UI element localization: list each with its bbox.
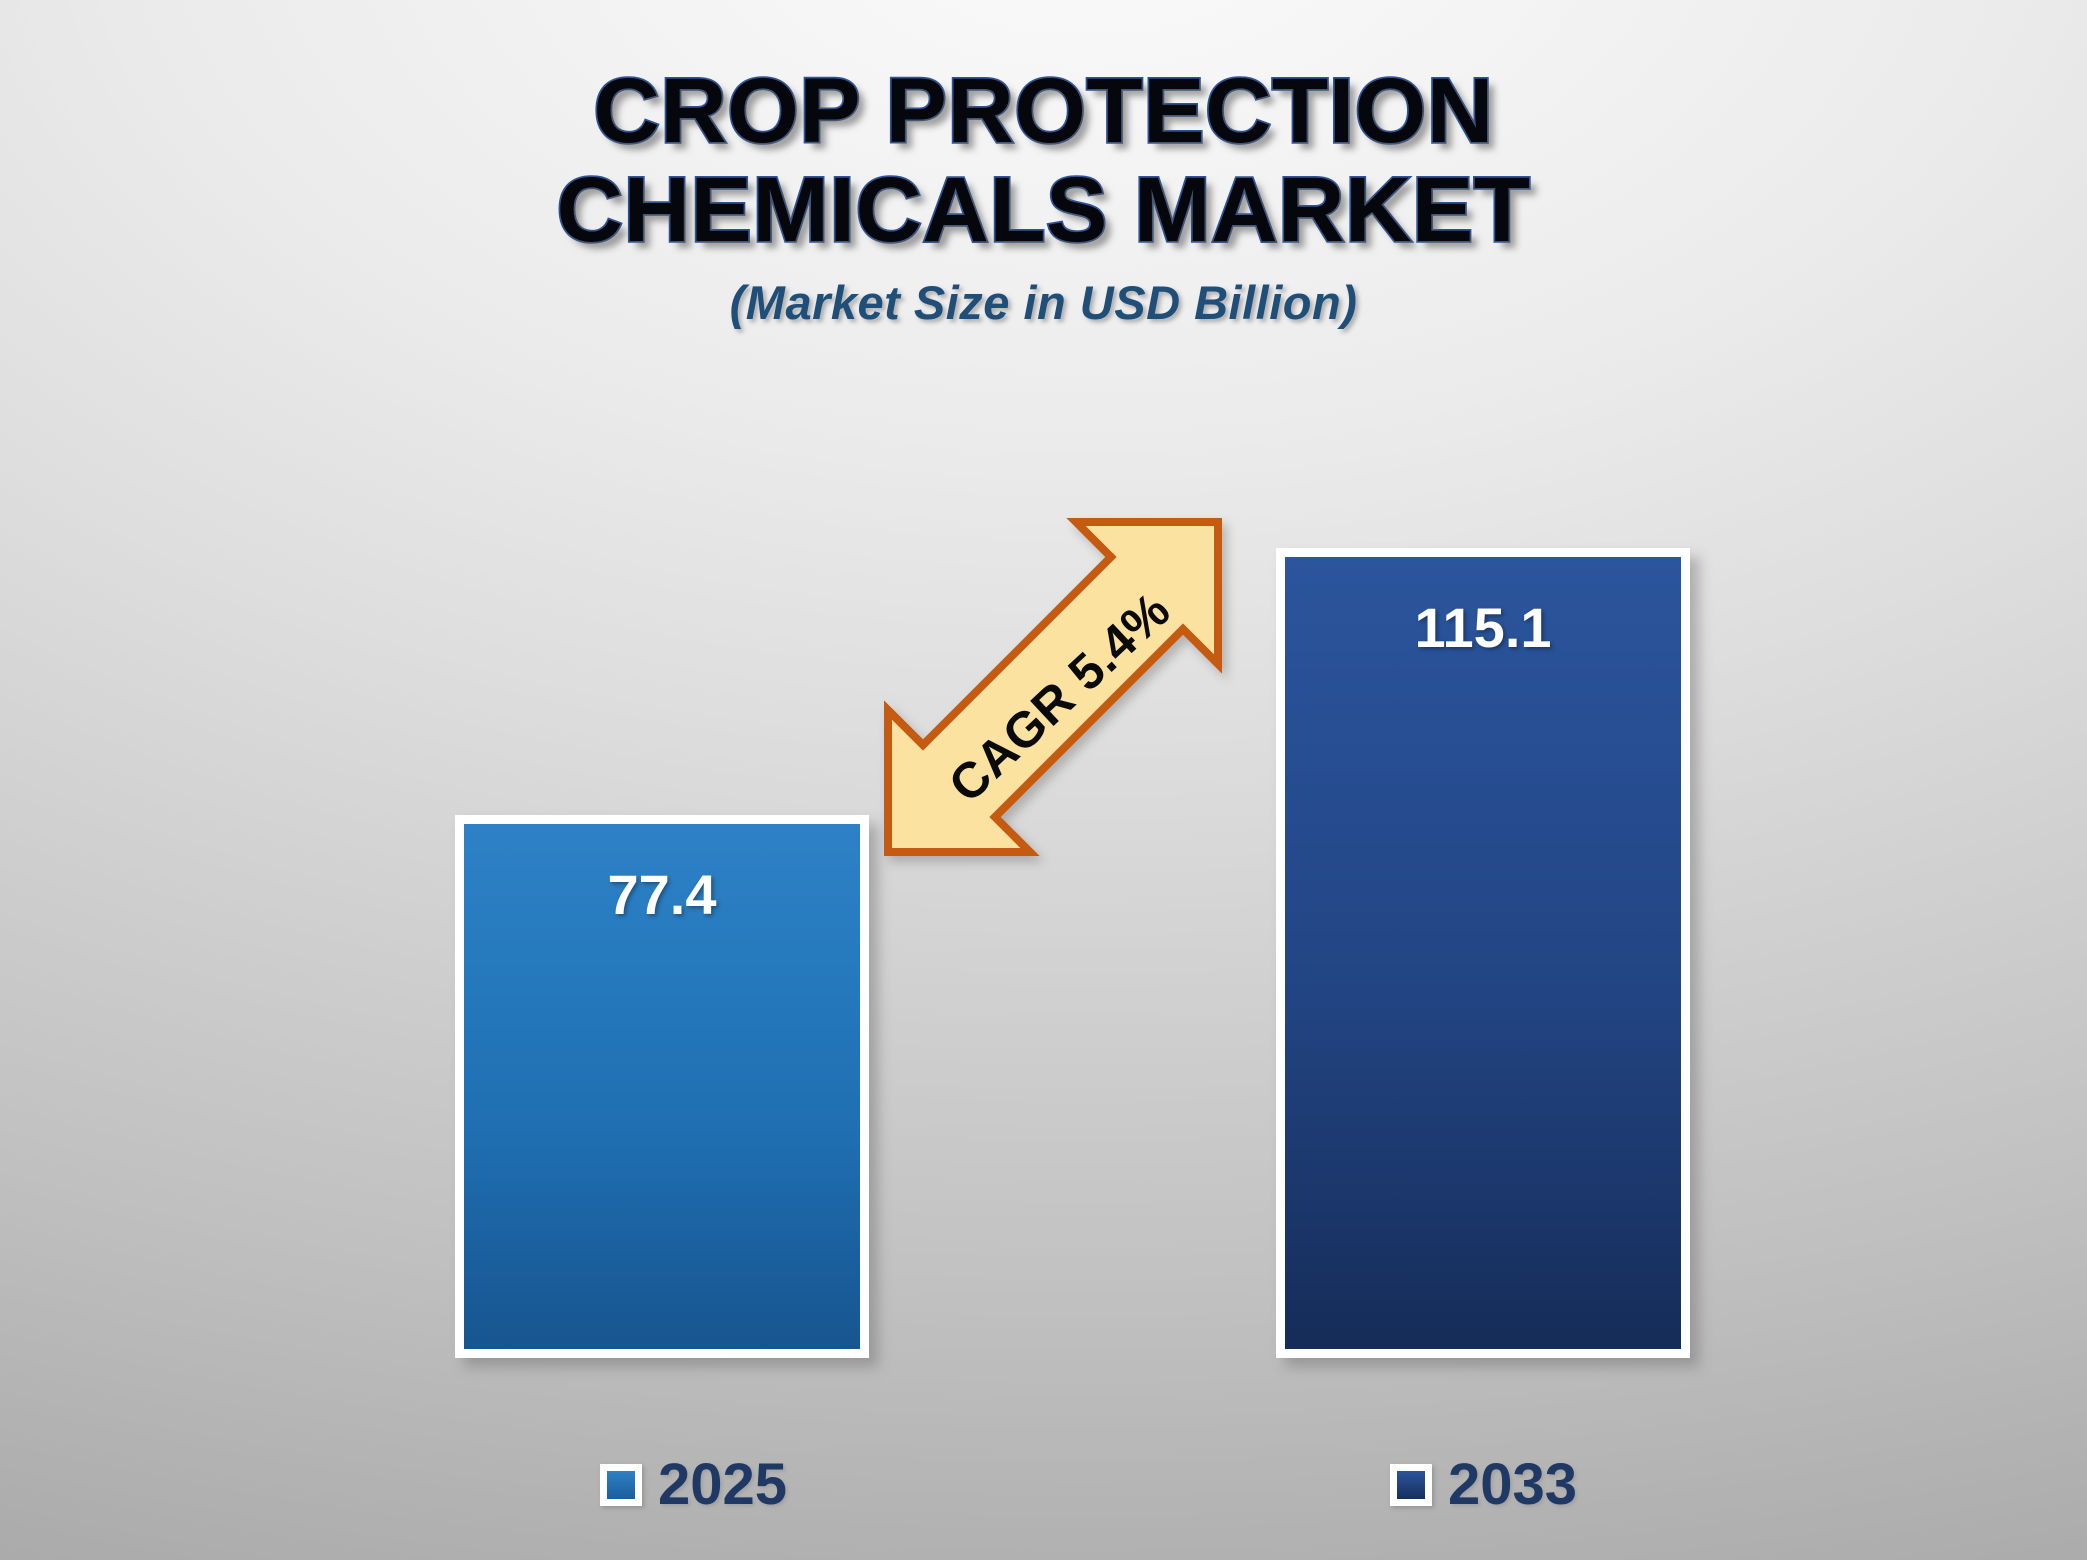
chart-slide: CROP PROTECTION CHEMICALS MARKET (Market… (0, 0, 2087, 1560)
legend-label-2033: 2033 (1448, 1456, 1577, 1514)
bar-value-label-2025: 77.4 (464, 862, 860, 927)
chart-legend: 2025 2033 (0, 1438, 2087, 1528)
bar-2025[interactable]: 77.4 (455, 815, 869, 1358)
chart-plot-area: 77.4 115.1 CAGR 5.4% (0, 0, 2087, 1560)
legend-swatch-icon-2025 (600, 1464, 642, 1506)
legend-item-2033[interactable]: 2033 (1390, 1456, 1577, 1514)
legend-label-2025: 2025 (658, 1456, 787, 1514)
legend-swatch-icon-2033 (1390, 1464, 1432, 1506)
bar-value-label-2033: 115.1 (1285, 595, 1681, 660)
legend-item-2025[interactable]: 2025 (600, 1456, 787, 1514)
cagr-arrow-icon (880, 500, 1250, 890)
bar-2033[interactable]: 115.1 (1276, 548, 1690, 1358)
